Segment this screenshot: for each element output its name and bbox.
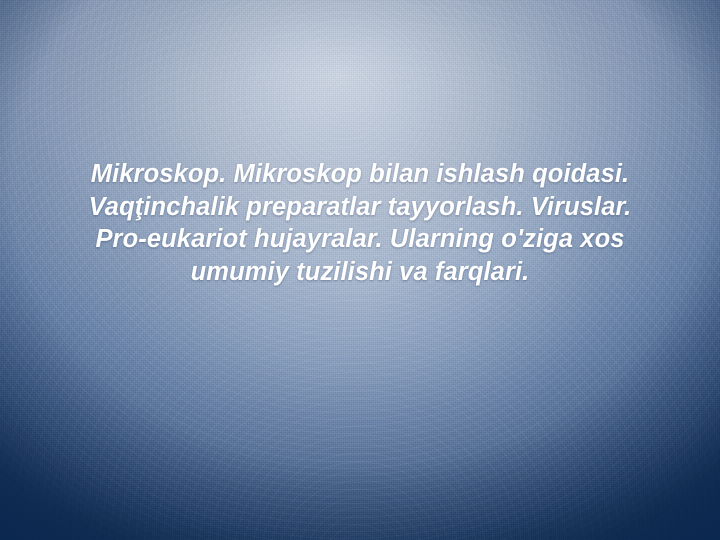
presentation-slide: Mikroskop. Mikroskop bilan ishlash qoida…	[0, 0, 720, 540]
title-line-3: Pro-eukariot hujayralar. Ularning o'ziga…	[60, 223, 660, 256]
title-line-2: Vaqţinchalik preparatlar tayyorlash. Vir…	[60, 191, 660, 224]
title-line-4: umumiy tuzilishi va farqlari.	[60, 256, 660, 289]
title-line-1: Mikroskop. Mikroskop bilan ishlash qoida…	[60, 158, 660, 191]
slide-title: Mikroskop. Mikroskop bilan ishlash qoida…	[60, 158, 660, 288]
